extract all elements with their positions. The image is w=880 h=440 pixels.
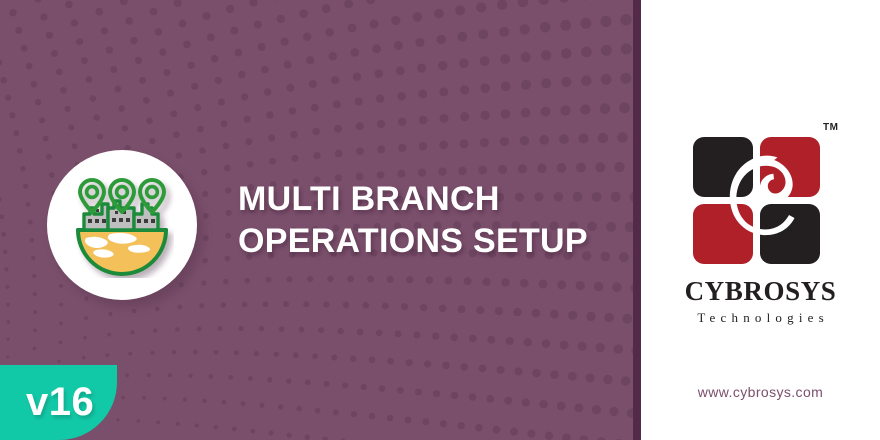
version-badge-label: v16 — [26, 379, 94, 425]
website-url: www.cybrosys.com — [641, 384, 880, 400]
title-line-1: MULTI BRANCH — [238, 178, 618, 220]
promo-banner: MULTI BRANCH OPERATIONS SETUP v16 TM CYB… — [0, 0, 880, 440]
left-panel: MULTI BRANCH OPERATIONS SETUP v16 — [0, 0, 633, 440]
feature-icon-circle — [47, 150, 197, 300]
brand-name: CYBROSYS — [641, 276, 880, 307]
multi-branch-globe-icon — [70, 174, 174, 278]
title-line-2: OPERATIONS SETUP — [238, 220, 618, 262]
brand-subtitle: Technologies — [641, 310, 880, 326]
trademark-symbol: TM — [823, 122, 838, 133]
right-panel: TM CYBROSYS Technologies www.cybrosys.co… — [641, 0, 880, 440]
page-title: MULTI BRANCH OPERATIONS SETUP — [238, 178, 618, 262]
panel-divider — [633, 0, 641, 440]
cybrosys-logo — [693, 137, 820, 264]
logo-square-bottom-left — [693, 204, 753, 264]
